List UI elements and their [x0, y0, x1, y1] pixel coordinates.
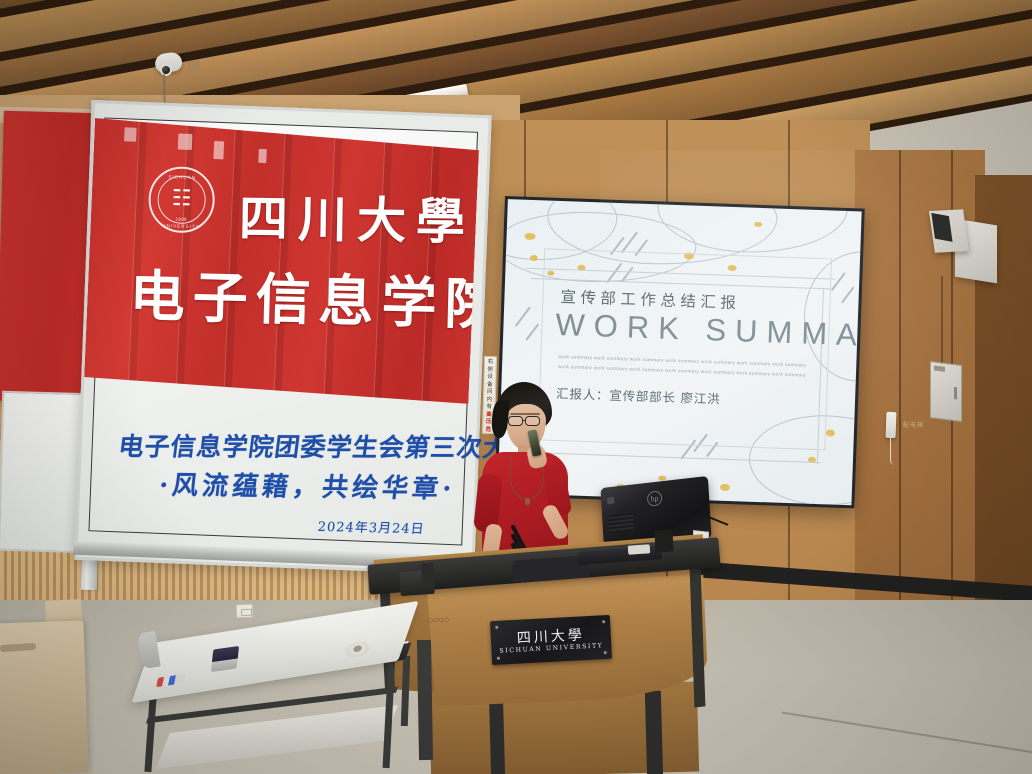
- phone-cord: [890, 437, 895, 465]
- lectern-base-slot: [645, 691, 663, 774]
- necklace-pendant: [525, 498, 530, 505]
- wall-phone-icon[interactable]: [886, 412, 897, 438]
- lectern-plaque: 四川大學 SICHUAN UNIVERSITY: [490, 615, 612, 665]
- cart-post: [417, 640, 433, 760]
- glasses-lens-left-icon: [508, 416, 523, 426]
- ceiling-speaker-icon: [929, 209, 969, 252]
- banner-line-1: 四川大學: [239, 179, 476, 254]
- whiteboard-line-2: ·风流蕴藉，共绘华章·: [157, 465, 457, 506]
- table-small-box[interactable]: [211, 646, 239, 672]
- desk-device-riser: [421, 563, 435, 586]
- glasses-lens-right-icon: [525, 416, 540, 426]
- electrical-panel-icon[interactable]: [930, 361, 962, 422]
- seal-year: 1896: [150, 216, 212, 223]
- table-leg: [401, 656, 410, 726]
- wall-sign-label: 配电箱: [903, 420, 931, 429]
- remote-control[interactable]: [628, 544, 651, 555]
- presenter-face: [506, 404, 546, 450]
- camera-mount: [187, 60, 201, 74]
- wall-conduit: [941, 276, 943, 366]
- table-back-lip: [137, 631, 160, 669]
- seal-arc-top: SICHUAN: [151, 174, 213, 181]
- side-table: [140, 598, 440, 774]
- hp-logo-icon: hp: [647, 490, 663, 507]
- scu-seal-icon: SICHUAN ☷ 1896 UNIVERSITY: [148, 166, 216, 234]
- desk-black-block: [654, 530, 673, 553]
- table-top: [131, 601, 418, 703]
- seal-glyph: ☷: [172, 188, 192, 210]
- glasses-bridge: [523, 420, 526, 421]
- seal-arc-bottom: UNIVERSITY: [150, 222, 212, 229]
- wall-socket-icon[interactable]: [236, 604, 253, 619]
- banner-line-2: 电子信息学院: [129, 251, 480, 340]
- panel-label: [934, 366, 945, 372]
- presenter-brow: [510, 413, 540, 415]
- red-banner-cloth: SICHUAN ☷ 1896 UNIVERSITY 四川大學 电子信息学院: [84, 118, 480, 404]
- monitor-badge: [607, 497, 614, 505]
- classroom-photo: 电子信息学院团委学生会第三次大例会 ·风流蕴藉，共绘华章· 2024年3月24日…: [0, 0, 1032, 774]
- speaker-grille: [931, 213, 952, 242]
- red-banner: SICHUAN ☷ 1896 UNIVERSITY 四川大學 电子信息学院: [82, 118, 479, 434]
- lectern-base-slot: [489, 693, 505, 774]
